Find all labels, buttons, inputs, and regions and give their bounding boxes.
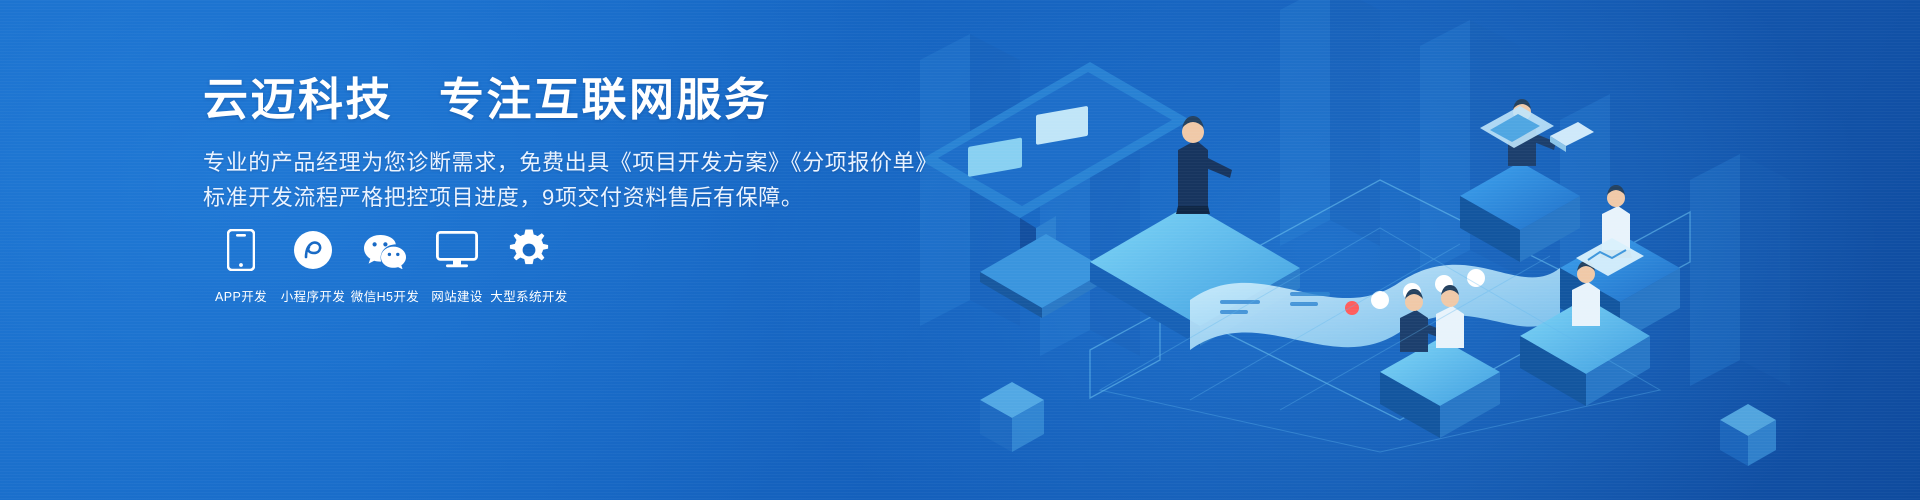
service-label: 小程序开发 xyxy=(281,286,346,305)
service-item-app[interactable]: APP开发 xyxy=(205,228,277,305)
service-item-wechat[interactable]: 微信H5开发 xyxy=(349,228,421,305)
hero-banner: 云迈科技 专注互联网服务 专业的产品经理为您诊断需求，免费出具《项目开发方案》《… xyxy=(0,0,1920,500)
service-label: 网站建设 xyxy=(431,286,483,305)
service-label: APP开发 xyxy=(215,286,267,305)
service-label: 大型系统开发 xyxy=(490,286,567,305)
service-icon-row: APP开发 小程序开发 xyxy=(205,228,565,305)
page-title: 云迈科技 专注互联网服务 xyxy=(203,72,772,128)
subtitle-line-2: 标准开发流程严格把控项目进度，9项交付资料售后有保障。 xyxy=(203,180,803,216)
service-item-website[interactable]: 网站建设 xyxy=(421,228,493,305)
banner-content: 云迈科技 专注互联网服务 专业的产品经理为您诊断需求，免费出具《项目开发方案》《… xyxy=(203,0,963,500)
service-label: 微信H5开发 xyxy=(351,286,419,305)
service-item-miniprogram[interactable]: 小程序开发 xyxy=(277,228,349,305)
mobile-phone-icon xyxy=(227,228,255,272)
wechat-icon xyxy=(363,228,407,272)
isometric-illustration xyxy=(860,0,1920,500)
mini-program-icon xyxy=(293,228,333,272)
service-item-system[interactable]: 大型系统开发 xyxy=(493,228,565,305)
monitor-icon xyxy=(436,228,478,272)
gear-icon xyxy=(508,228,550,272)
headline-tagline: 专注互联网服务 xyxy=(439,74,772,125)
subtitle-line-1: 专业的产品经理为您诊断需求，免费出具《项目开发方案》《分项报价单》 xyxy=(203,145,938,181)
headline-brand: 云迈科技 xyxy=(203,74,393,125)
